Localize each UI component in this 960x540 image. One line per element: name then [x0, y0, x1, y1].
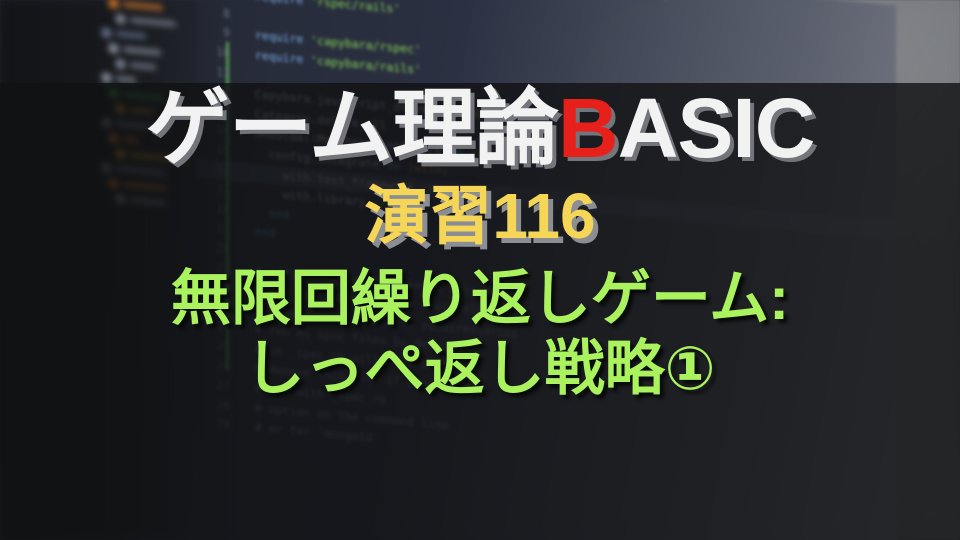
- title-latin-rest: ASIC: [618, 81, 815, 175]
- slide-canvas: 5 abort("The Rails environment is runnin…: [0, 0, 960, 540]
- exercise-number: 演習116: [0, 184, 960, 248]
- title-japanese: ゲーム理論: [146, 81, 558, 175]
- headline-group: ゲーム理論BASIC 演習116 無限回繰り返しゲーム: しっぺ返し戦略①: [0, 0, 960, 540]
- title-accent-letter: B: [558, 81, 618, 175]
- page-title: ゲーム理論BASIC: [0, 86, 960, 170]
- topic-line-2: しっぺ返し戦略①: [0, 338, 960, 400]
- topic-line-1: 無限回繰り返しゲーム:: [0, 268, 960, 330]
